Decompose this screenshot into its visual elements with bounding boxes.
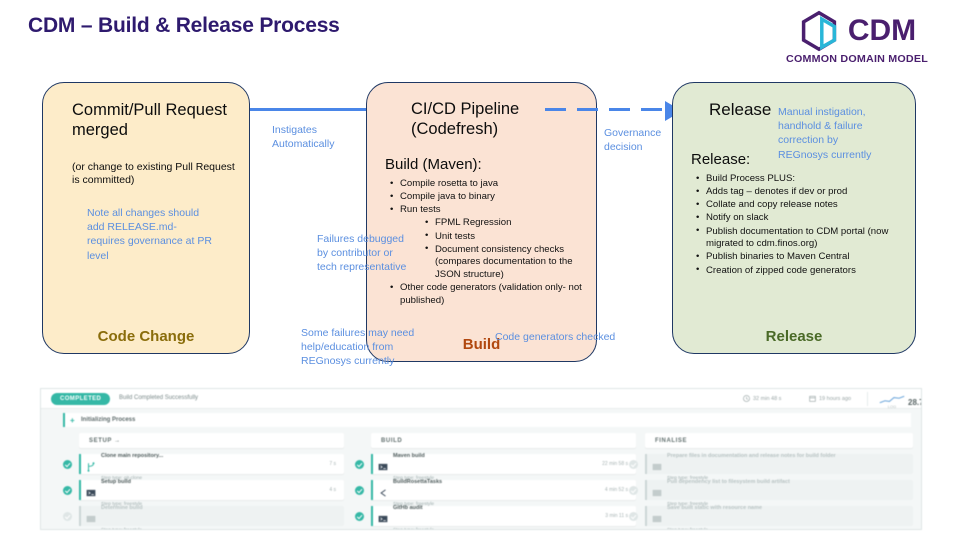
- step-title: BuildRosettaTasks: [393, 479, 442, 485]
- status-check-icon: [63, 486, 72, 495]
- step-accent-bar: [645, 506, 647, 526]
- terminal-icon: [86, 485, 96, 495]
- terminal-icon: [652, 459, 662, 469]
- step-title: GitHb audit: [393, 505, 423, 511]
- terminal-icon: [652, 511, 662, 521]
- step-accent-bar: [645, 454, 647, 474]
- status-check-icon: [629, 460, 638, 469]
- pipeline-column-build: BUILD Maven build Step type: freestyle 2…: [371, 433, 636, 530]
- build-heading: CI/CD Pipeline (Codefresh): [411, 99, 561, 139]
- pipeline-duration: 32 min 48 s: [743, 395, 781, 402]
- step-accent-bar: [79, 506, 81, 526]
- status-text: Build Completed Successfully: [119, 395, 198, 401]
- pipeline-age-label: 19 hours ago: [819, 396, 851, 402]
- build-sub-bullet-list: FPML Regression Unit tests Document cons…: [424, 217, 589, 281]
- list-item: Publish binaries to Maven Central: [695, 251, 910, 264]
- log-label: LOG: [888, 404, 896, 409]
- build-section-title: Build (Maven):: [385, 156, 482, 174]
- list-item: Build Process PLUS:: [695, 173, 910, 186]
- status-check-icon: [355, 460, 364, 469]
- step-duration: 4 s: [329, 487, 336, 493]
- list-item: Unit tests: [424, 231, 589, 244]
- step-duration: 4 min 52 s: [605, 487, 628, 493]
- list-item: Compile java to binary: [389, 191, 589, 204]
- code-change-heading: Commit/Pull Request merged: [72, 100, 232, 140]
- status-check-icon: [629, 512, 638, 521]
- code-change-note: Note all changes should add RELEASE.md- …: [87, 206, 212, 263]
- terminal-icon: [86, 511, 96, 521]
- logo-wordmark: CDM: [848, 16, 916, 46]
- step-duration: 3 min 11 s: [605, 513, 628, 519]
- status-check-icon: [63, 512, 72, 521]
- list-item: Other code generators (validation only- …: [389, 282, 589, 307]
- list-item: Notify on slack: [695, 212, 910, 225]
- list-item: Adds tag – denotes if dev or prod: [695, 186, 910, 199]
- pipeline-age: 19 hours ago: [809, 395, 851, 402]
- step-title: Determine build: [101, 505, 143, 511]
- step-title: Save built static with resource name: [667, 505, 762, 511]
- list-item: Collate and copy release notes: [695, 199, 910, 212]
- step-title: Setup build: [101, 479, 131, 485]
- pipeline-metric-value: 28.74s: [908, 398, 922, 407]
- step-accent-bar: [79, 480, 81, 500]
- status-badge: COMPLETED: [51, 393, 110, 405]
- step-duration: 22 min 58 s: [602, 461, 628, 467]
- step-title: Maven build: [393, 453, 425, 459]
- release-bullet-list: Build Process PLUS: Adds tag – denotes i…: [695, 173, 910, 277]
- list-item: FPML Regression: [424, 217, 589, 230]
- branch-icon: [378, 485, 388, 495]
- step-accent-bar: [79, 454, 81, 474]
- pipeline-column-finalise: FINALISE Prepare files in documentation …: [645, 433, 913, 530]
- terminal-icon: [652, 485, 662, 495]
- process-box-code-change: Commit/Pull Request merged (or change to…: [42, 82, 250, 354]
- status-check-icon: [355, 486, 364, 495]
- status-check-icon: [355, 512, 364, 521]
- terminal-icon: [378, 511, 388, 521]
- calendar-icon: [809, 395, 816, 402]
- sparkline-icon: [879, 395, 905, 404]
- release-note: Manual instigation, handhold & failure c…: [778, 105, 882, 162]
- cdm-logo: CDM COMMON DOMAIN MODEL: [768, 10, 946, 72]
- step-accent-bar: [371, 506, 373, 526]
- step-accent-bar: [371, 480, 373, 500]
- process-box-build: CI/CD Pipeline (Codefresh) Build (Maven)…: [366, 82, 597, 362]
- pipeline-topbar: COMPLETED Build Completed Successfully 3…: [41, 389, 921, 409]
- list-item: Publish documentation to CDM portal (now…: [695, 226, 910, 251]
- list-item: Run tests FPML Regression Unit tests Doc…: [389, 204, 589, 281]
- pipeline-column-setup: SETUP → Clone main repository... Step ty…: [79, 433, 344, 530]
- annotation-some-failures: Some failures may need help/education fr…: [301, 326, 429, 369]
- process-box-release: Release Manual instigation, handhold & f…: [672, 82, 916, 354]
- git-branch-icon: [86, 459, 96, 469]
- list-item: Creation of zipped code generators: [695, 265, 910, 278]
- page-title: CDM – Build & Release Process: [28, 14, 340, 38]
- hexagon-cube-icon: [798, 10, 840, 52]
- build-bullet-list: Compile rosetta to java Compile java to …: [389, 178, 589, 308]
- codefresh-pipeline-screenshot: COMPLETED Build Completed Successfully 3…: [40, 388, 922, 530]
- step-accent-bar: [371, 454, 373, 474]
- code-change-subtext: (or change to existing Pull Request is c…: [72, 161, 238, 188]
- code-change-footer: Code Change: [43, 328, 249, 345]
- pipeline-log-metric: LOG 28.74s: [879, 395, 922, 409]
- initializing-process-label: Initializing Process: [81, 417, 135, 423]
- step-duration: 7 s: [329, 461, 336, 467]
- initializing-process-row[interactable]: + Initializing Process: [63, 413, 911, 427]
- annotation-instigates: Instigates Automatically: [272, 123, 358, 151]
- expand-icon[interactable]: +: [70, 416, 75, 425]
- status-check-icon: [63, 460, 72, 469]
- annotation-failures-debugged: Failures debugged by contributor or tech…: [317, 232, 413, 275]
- logo-subtitle: COMMON DOMAIN MODEL: [766, 53, 948, 65]
- step-title: Clone main repository...: [101, 453, 163, 459]
- release-section-title: Release:: [691, 151, 750, 169]
- release-footer: Release: [673, 328, 915, 345]
- slide-canvas: CDM – Build & Release Process CDM COMMON…: [0, 0, 960, 540]
- topbar-divider: [867, 392, 868, 406]
- step-title: Prepare files in documentation and relea…: [667, 453, 836, 459]
- annotation-governance: Governance decision: [604, 126, 676, 154]
- release-heading: Release: [709, 100, 771, 121]
- clock-icon: [743, 395, 750, 402]
- step-title: Pull dependency list to filesystem build…: [667, 479, 790, 485]
- list-item-label: Run tests: [400, 204, 441, 215]
- annotation-code-generators: Code generators checked: [495, 330, 635, 344]
- pipeline-duration-label: 32 min 48 s: [753, 396, 781, 402]
- terminal-icon: [378, 459, 388, 469]
- list-item: Document consistency checks (compares do…: [424, 244, 589, 282]
- step-accent-bar: [645, 480, 647, 500]
- status-check-icon: [629, 486, 638, 495]
- list-item: Compile rosetta to java: [389, 178, 589, 191]
